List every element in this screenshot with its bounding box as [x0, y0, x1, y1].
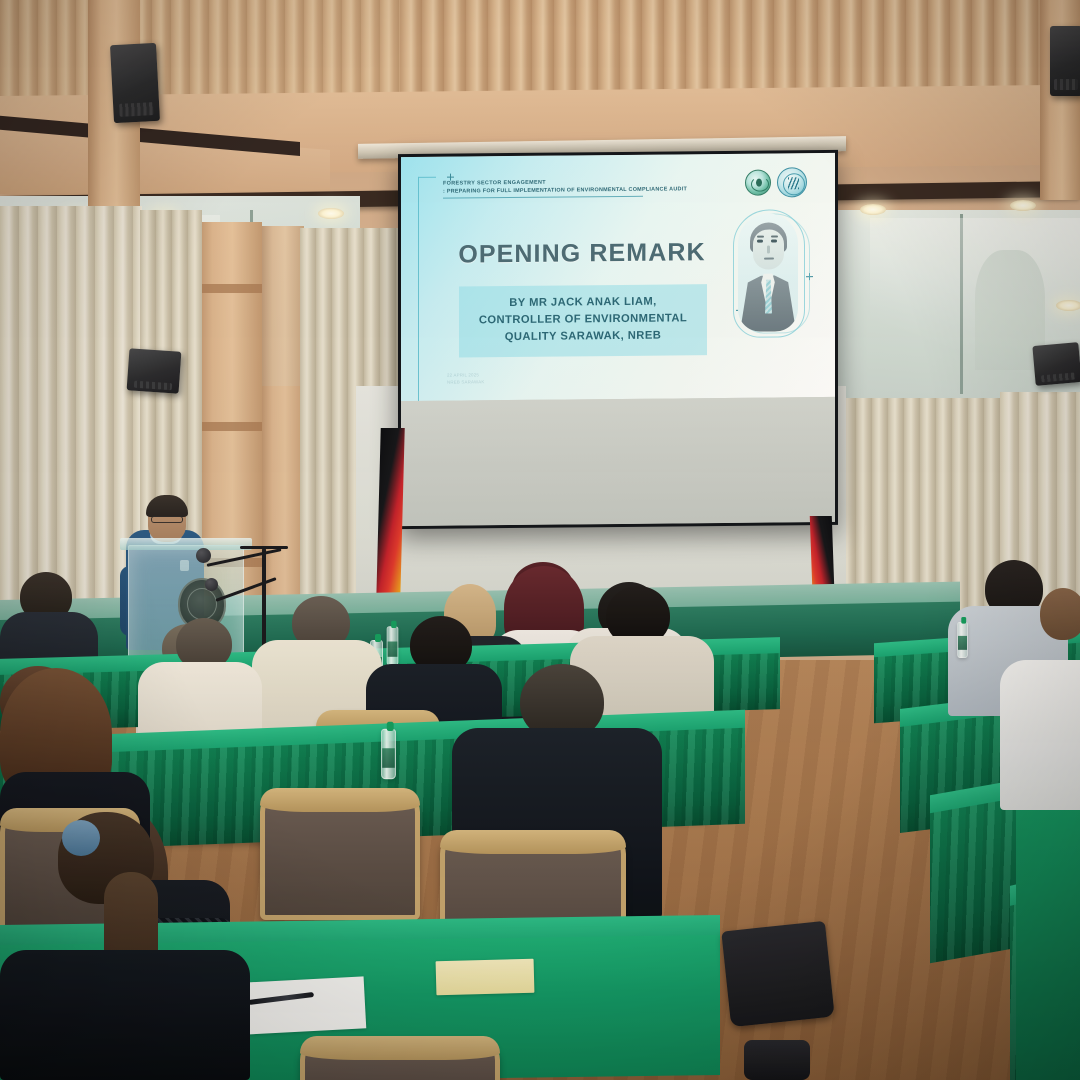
slide-footer-line2: NREB SARAWAK — [447, 379, 484, 384]
slide-subtitle-line2: CONTROLLER OF ENVIRONMENTAL — [465, 310, 701, 329]
slide-header-underline — [443, 195, 643, 198]
chair-row1-1[interactable] — [260, 790, 420, 920]
portrait-eye-right — [771, 239, 777, 242]
slide-subtitle-box: BY MR JACK ANAK LIAM, CONTROLLER OF ENVI… — [459, 284, 707, 357]
attendee-head-right-2 — [1040, 588, 1080, 640]
wall-speaker-right-lower — [1032, 342, 1080, 386]
speaker-portrait-illustration — [733, 209, 805, 338]
slide-header: FORESTRY SECTOR ENGAGEMENT : PREPARING F… — [443, 178, 701, 198]
slide-corner-bracket — [418, 177, 436, 401]
yellow-note-card — [436, 959, 535, 996]
water-bottle-row2-b — [387, 626, 399, 666]
attendee-torso-right-2 — [1000, 660, 1080, 810]
slide-header-line2: : PREPARING FOR FULL IMPLEMENTATION OF E… — [443, 186, 701, 194]
portrait-eye-left — [757, 240, 763, 243]
projected-slide: FORESTRY SECTOR ENGAGEMENT : PREPARING F… — [401, 153, 835, 401]
slide-footer: 22 APRIL 2025 NREB SARAWAK — [447, 372, 484, 384]
portrait-image — [738, 213, 798, 332]
portrait-brow-right — [771, 235, 778, 237]
wall-speaker-right-upper — [1050, 26, 1080, 96]
black-bag — [721, 921, 834, 1027]
foreground-person-hair-tie — [62, 820, 100, 856]
conference-hall-photo: FORESTRY SECTOR ENGAGEMENT : PREPARING F… — [0, 0, 1080, 1080]
foreground-person-torso — [0, 950, 250, 1080]
sarawak-agency-logo — [777, 167, 807, 197]
nreb-seal-logo — [745, 170, 771, 196]
presenter-glasses — [151, 516, 183, 523]
microphone-head-2 — [205, 578, 218, 591]
downlight-2 — [860, 204, 886, 215]
chair-crest — [300, 1036, 500, 1060]
podium-top-ledge — [120, 538, 252, 550]
chair-back — [300, 1038, 500, 1080]
chair-foreground[interactable] — [300, 1038, 500, 1080]
water-bottle-row1-a — [381, 729, 396, 780]
downlight-1 — [318, 208, 344, 219]
chair-back — [260, 790, 420, 920]
chair-crest — [440, 830, 626, 854]
chair-crest — [260, 788, 420, 812]
downlight-3 — [1010, 200, 1036, 211]
slide-footer-line1: 22 APRIL 2025 — [447, 372, 484, 377]
screen-blank-area — [401, 396, 835, 526]
wall-speaker-left-upper — [110, 43, 160, 123]
portrait-nose — [767, 246, 770, 254]
portrait-mouth — [764, 258, 774, 260]
shoe-right — [744, 1040, 810, 1080]
microphone-stand-boom — [240, 546, 288, 549]
portrait-brow-left — [757, 236, 764, 238]
wall-speaker-left-lower — [127, 348, 182, 394]
downlight-5 — [1056, 300, 1080, 311]
pilaster-left-2 — [262, 226, 304, 636]
screen-surface: FORESTRY SECTOR ENGAGEMENT : PREPARING F… — [401, 153, 835, 526]
table-edge-right-foreground — [1016, 810, 1080, 1080]
slide-title: OPENING REMARK — [453, 238, 711, 269]
water-bottle-right — [957, 622, 968, 658]
slide-subtitle-line3: QUALITY SARAWAK, NREB — [465, 327, 701, 346]
microphone-head-1 — [196, 548, 211, 563]
projection-screen: FORESTRY SECTOR ENGAGEMENT : PREPARING F… — [398, 150, 838, 529]
